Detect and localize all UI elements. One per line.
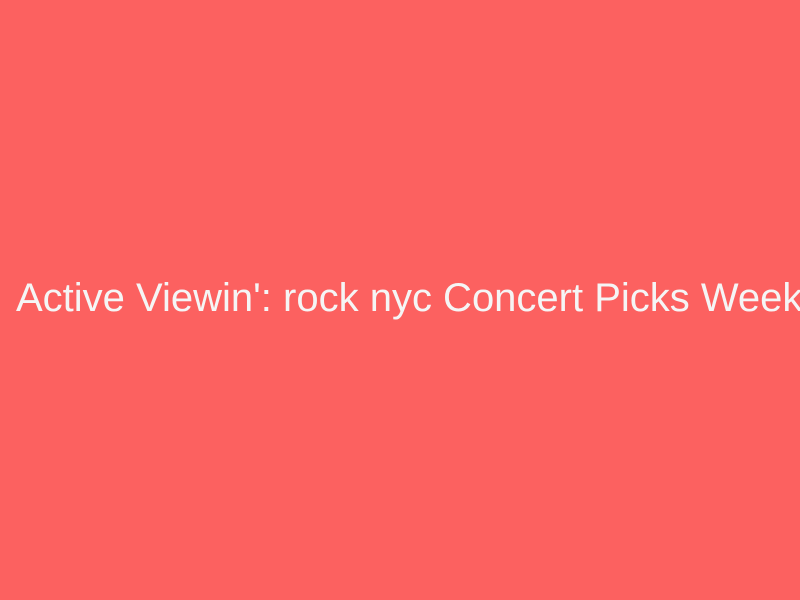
page-title: Active Viewin': rock nyc Concert Picks W… [0,275,800,321]
placeholder-image-card: Active Viewin': rock nyc Concert Picks W… [0,0,800,600]
